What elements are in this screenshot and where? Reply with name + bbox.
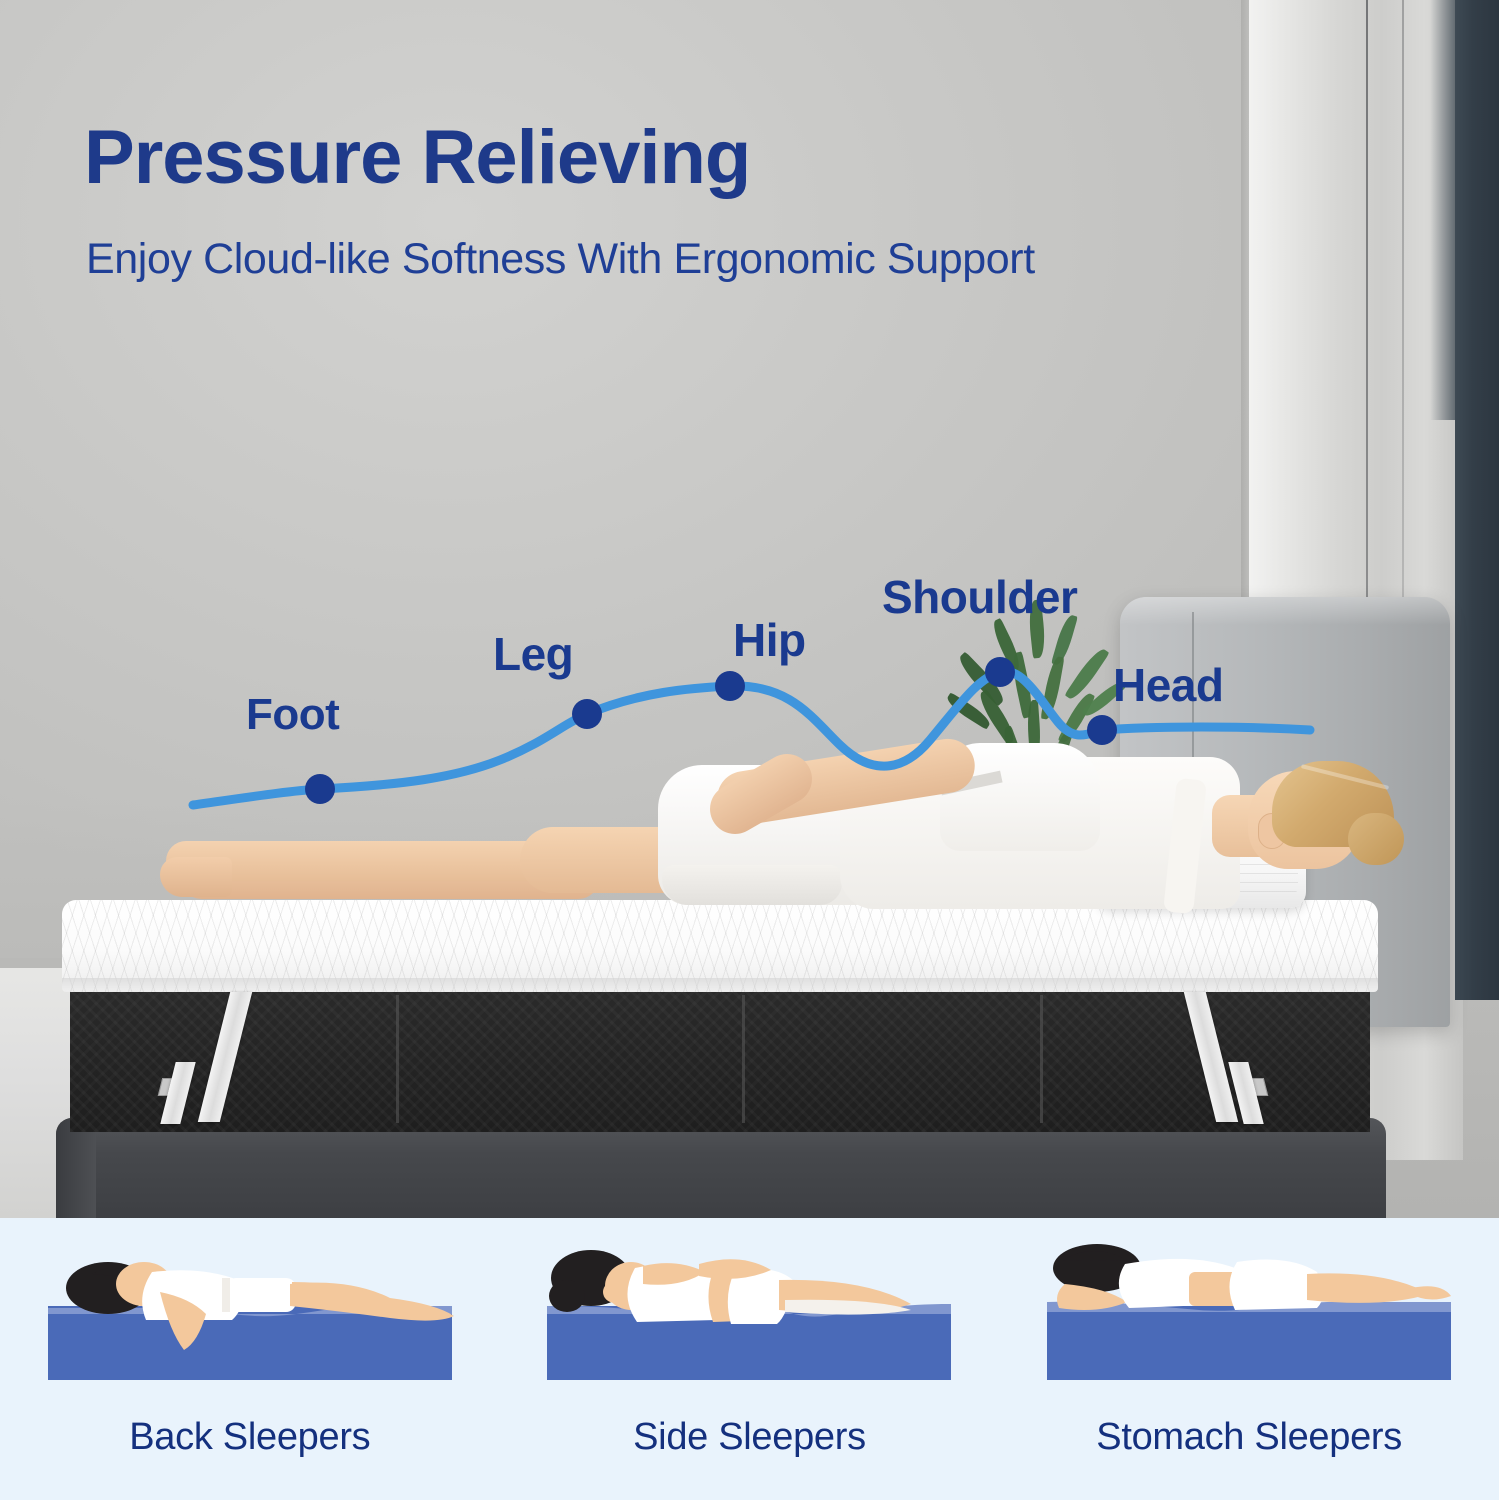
curve-point-hip	[715, 671, 745, 701]
page-subtitle: Enjoy Cloud-like Softness With Ergonomic…	[86, 238, 1035, 281]
curve-label-foot: Foot	[246, 690, 339, 740]
sleeper-label-side: Side Sleepers	[633, 1416, 866, 1459]
sleeper-label-back: Back Sleepers	[129, 1416, 370, 1459]
curve-point-foot	[305, 774, 335, 804]
sleeper-art-stomach	[1039, 1244, 1459, 1404]
sleeper-illustration-side	[539, 1244, 959, 1404]
curve-label-hip: Hip	[733, 613, 806, 667]
curve-label-shoulder: Shoulder	[882, 570, 1077, 624]
page-title: Pressure Relieving	[84, 120, 750, 196]
bedroom-scene: FootLegHipShoulderHead Pressure Relievin…	[0, 0, 1499, 1218]
sleeper-art-side	[539, 1244, 959, 1404]
sleeper-types-panel: Back Sleepers Side Sleepers	[0, 1218, 1499, 1500]
sleeper-label-stomach: Stomach Sleepers	[1096, 1416, 1402, 1459]
product-marketing-image: FootLegHipShoulderHead Pressure Relievin…	[0, 0, 1499, 1500]
curve-point-head	[1087, 715, 1117, 745]
curve-label-head: Head	[1113, 658, 1223, 712]
sleeper-card-back: Back Sleepers	[35, 1244, 465, 1459]
sleeper-cards: Back Sleepers Side Sleepers	[0, 1218, 1499, 1500]
sleeper-art-back	[40, 1244, 460, 1404]
curve-point-shoulder	[985, 657, 1015, 687]
sleeper-illustration-back	[40, 1244, 460, 1404]
sleeper-illustration-stomach	[1039, 1244, 1459, 1404]
sleeper-card-stomach: Stomach Sleepers	[1034, 1244, 1464, 1459]
sleeper-card-side: Side Sleepers	[534, 1244, 964, 1459]
curve-point-leg	[572, 699, 602, 729]
curve-label-leg: Leg	[493, 627, 573, 681]
